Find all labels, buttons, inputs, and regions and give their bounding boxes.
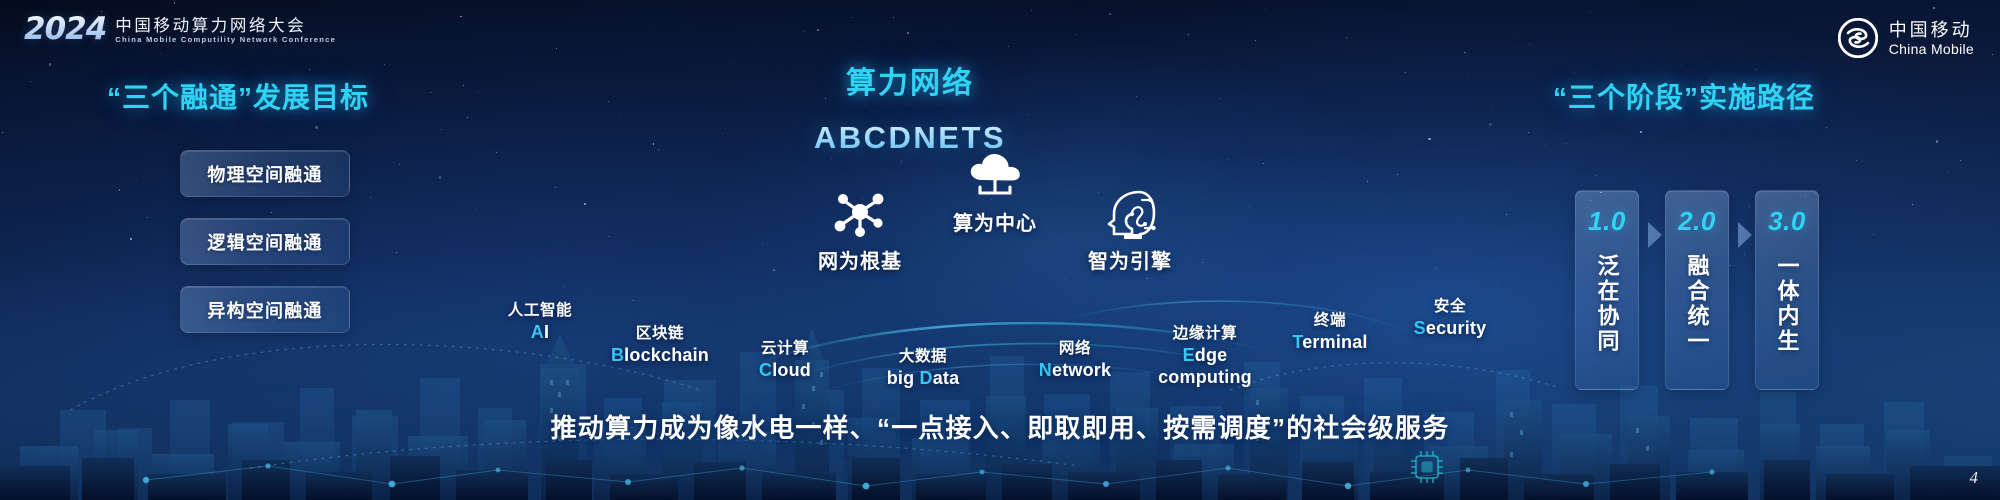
pillar-network[interactable]: 网为根基 xyxy=(790,188,930,274)
conference-year: 2024 xyxy=(24,14,106,45)
tech-label-bigdata: 大数据 big Data xyxy=(848,348,998,389)
pill-label: 逻辑空间融通 xyxy=(207,229,322,255)
conference-title-en: China Mobile Computility Network Confere… xyxy=(115,36,336,44)
pill-heterogeneous-space[interactable]: 异构空间融通 xyxy=(180,286,350,333)
network-nodes-icon xyxy=(830,188,890,240)
tech-label-en-line2: computing xyxy=(1120,366,1290,389)
left-section-title: “三个融通”发展目标 xyxy=(107,76,369,116)
stage-name: 泛在协同 xyxy=(1594,254,1619,354)
slide-canvas: 2024 中国移动算力网络大会 China Mobile Computility… xyxy=(0,0,2000,500)
conference-title-cn: 中国移动算力网络大会 xyxy=(115,18,336,35)
cloud-icon xyxy=(964,150,1026,202)
pillar-label: 算为中心 xyxy=(925,207,1065,236)
right-section-title: “三个阶段”实施路径 xyxy=(1553,76,1815,116)
stage-card-3[interactable]: 3.0 一体内生 xyxy=(1755,190,1819,390)
chevron-right-icon xyxy=(1738,222,1754,248)
tech-label-cn: 云计算 xyxy=(715,340,855,359)
tech-label-cn: 人工智能 xyxy=(470,302,610,321)
chevron-right-icon xyxy=(1648,222,1664,248)
pillar-intelligence[interactable]: 智为引擎 xyxy=(1060,188,1200,274)
tech-label-en: Cloud xyxy=(715,359,855,382)
brand-name-en: China Mobile xyxy=(1889,42,1974,56)
tech-label-en: Security xyxy=(1375,317,1525,340)
pill-logical-space[interactable]: 逻辑空间融通 xyxy=(180,218,350,265)
pillar-label: 网为根基 xyxy=(790,245,930,274)
pillar-label: 智为引擎 xyxy=(1060,245,1200,274)
stage-name: 融合统一 xyxy=(1684,254,1709,354)
center-title-cn: 算力网络 xyxy=(700,58,1120,102)
pillar-computing[interactable]: 算为中心 xyxy=(925,150,1065,236)
pill-label: 物理空间融通 xyxy=(207,161,322,187)
tech-label-cn: 安全 xyxy=(1375,298,1525,317)
stage-version: 2.0 xyxy=(1678,206,1716,237)
china-mobile-swirl-icon xyxy=(1838,18,1878,58)
slide-tagline: 推动算力成为像水电一样、“一点接入、即取即用、按需调度”的社会级服务 xyxy=(0,408,2000,445)
stage-card-2[interactable]: 2.0 融合统一 xyxy=(1665,190,1729,390)
tech-label-cn: 大数据 xyxy=(848,348,998,367)
page-number: 4 xyxy=(1970,468,1979,488)
stage-card-1[interactable]: 1.0 泛在协同 xyxy=(1575,190,1639,390)
china-mobile-brand: 中国移动 China Mobile xyxy=(1838,18,1974,58)
brand-name-cn: 中国移动 xyxy=(1889,21,1974,39)
pill-label: 异构空间融通 xyxy=(207,297,322,323)
tech-label-en: big Data xyxy=(848,367,998,390)
tech-label-security: 安全 Security xyxy=(1375,298,1525,339)
stage-version: 1.0 xyxy=(1588,206,1626,237)
tech-label-cloud: 云计算 Cloud xyxy=(715,340,855,381)
stage-name: 一体内生 xyxy=(1774,254,1799,354)
conference-logo: 2024 中国移动算力网络大会 China Mobile Computility… xyxy=(24,14,336,45)
pill-physical-space[interactable]: 物理空间融通 xyxy=(180,150,350,197)
ai-brain-head-icon xyxy=(1102,188,1158,240)
stage-version: 3.0 xyxy=(1768,206,1806,237)
